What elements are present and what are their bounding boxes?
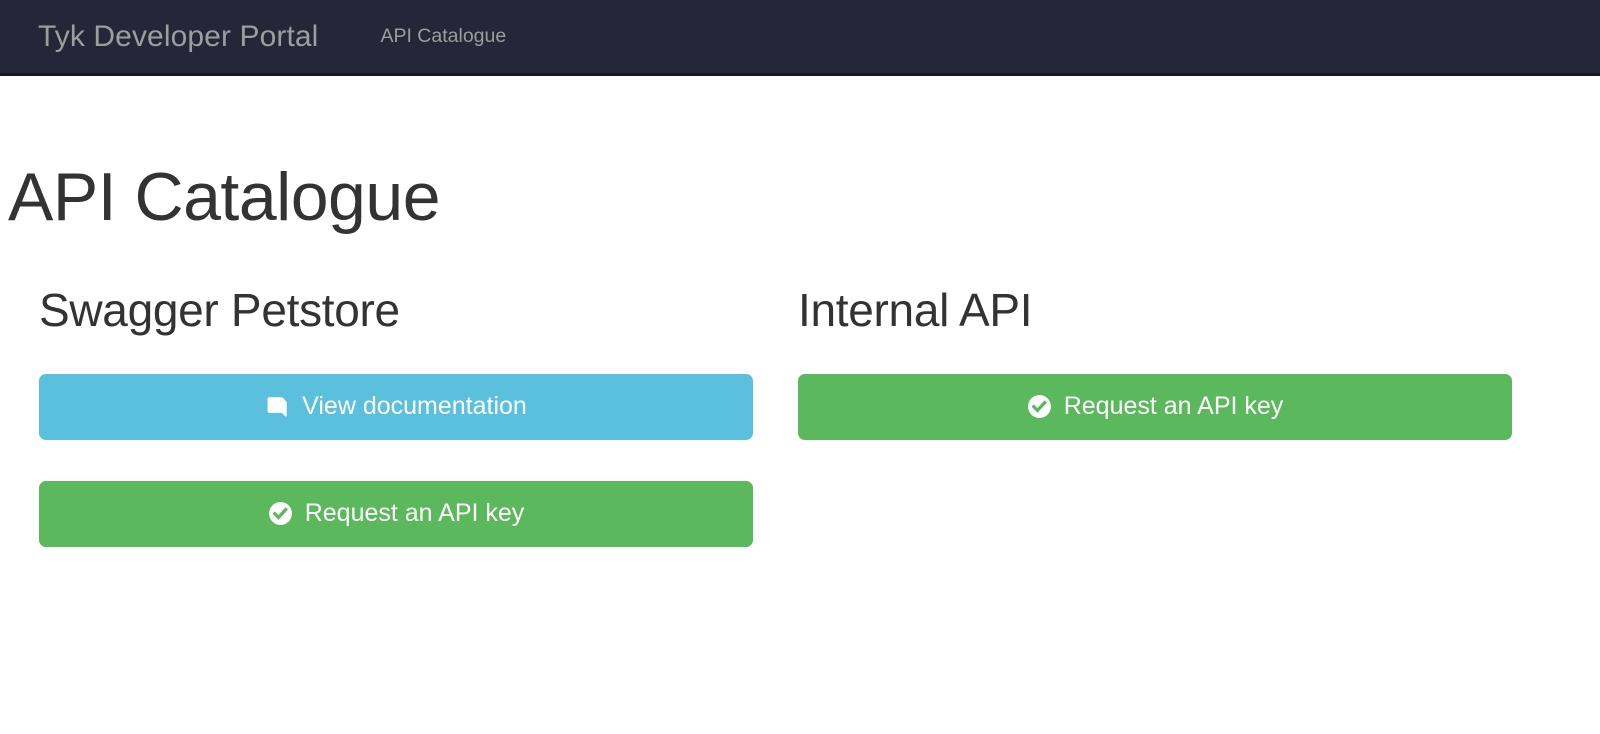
nav-link-api-catalogue[interactable]: API Catalogue [380,25,506,47]
request-api-key-button[interactable]: Request an API key [798,374,1512,440]
check-circle-icon [268,501,294,527]
view-documentation-button[interactable]: View documentation [39,374,753,440]
button-label: Request an API key [305,499,525,528]
api-card-internal-api: Internal API Request an API key [798,285,1554,547]
button-label: Request an API key [1064,392,1284,421]
page-content: API Catalogue Swagger Petstore View docu… [0,76,1600,547]
request-api-key-button[interactable]: Request an API key [39,481,753,547]
book-icon [265,394,291,420]
api-list: Swagger Petstore View documentation [8,285,1600,547]
navbar-link-item: API Catalogue [380,27,506,47]
api-title: Swagger Petstore [39,285,795,336]
navbar-brand[interactable]: Tyk Developer Portal [38,22,318,52]
check-circle-icon [1027,394,1053,420]
button-label: View documentation [302,392,527,421]
top-navbar: Tyk Developer Portal API Catalogue [0,0,1600,76]
api-card-swagger-petstore: Swagger Petstore View documentation [39,285,795,547]
page-title: API Catalogue [8,76,1600,233]
navbar-links: API Catalogue [380,27,506,47]
api-title: Internal API [798,285,1554,336]
